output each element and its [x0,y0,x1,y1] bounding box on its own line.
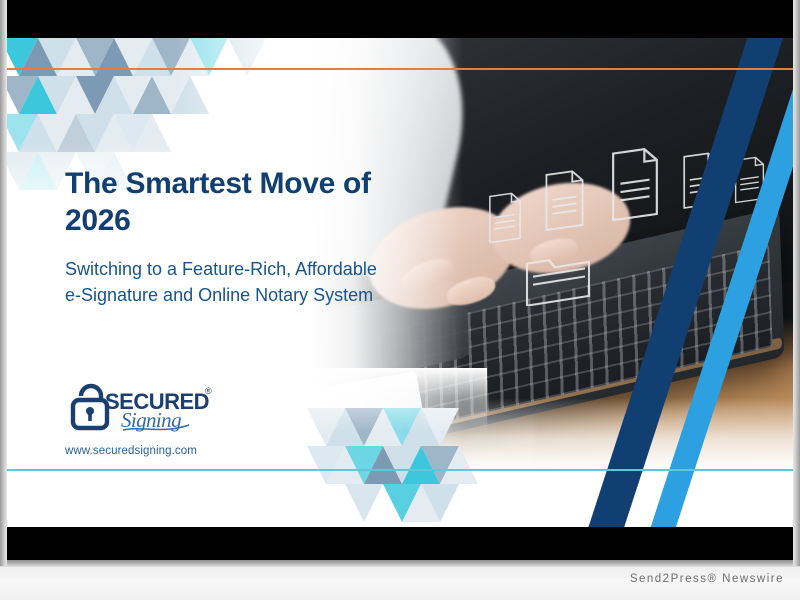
logo-registered-mark: ® [205,386,212,396]
slide-canvas: The Smartest Move of 2026 Switching to a… [0,0,800,600]
padlock-keyhole-stem [88,412,92,421]
brand-logo: SECURED ® Signing www.securedsigning.com [65,378,217,457]
page-subtitle: Switching to a Feature-Rich, Affordable … [65,257,395,308]
frame-edge-bottom [0,560,800,567]
frame-edge-right [793,0,800,566]
newswire-credit: Send2Press® Newswire [630,573,784,585]
brand-url[interactable]: www.securedsigning.com [65,445,217,457]
text-block: The Smartest Move of 2026 Switching to a… [65,166,395,308]
document-outline-icon [490,192,520,242]
letterbox-top [0,0,800,38]
document-outline-icon [613,147,657,220]
document-outline-icon [546,170,582,230]
folder-outline-icon [527,254,589,306]
orange-rule [7,68,793,70]
page-title: The Smartest Move of 2026 [65,166,395,239]
secured-signing-logo: SECURED ® Signing [65,378,217,436]
cyan-rule [7,469,793,471]
slide-card: The Smartest Move of 2026 Switching to a… [7,38,793,527]
frame-edge-left [0,0,7,566]
